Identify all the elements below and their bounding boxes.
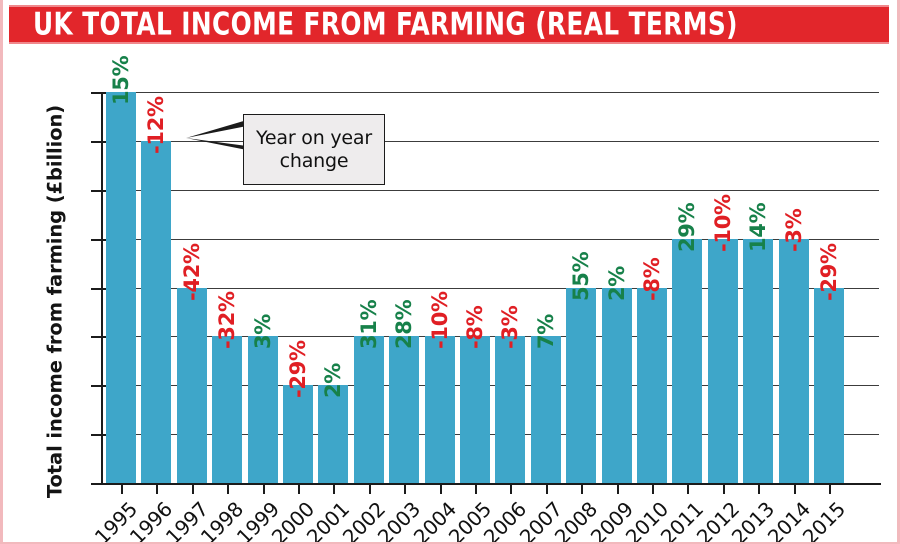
- bar[interactable]: [354, 336, 384, 483]
- x-tick-mark: [227, 484, 229, 494]
- bar-data-label: 29%: [677, 202, 698, 251]
- x-tick-mark: [298, 484, 300, 494]
- bar[interactable]: [531, 336, 561, 483]
- bar[interactable]: [779, 239, 809, 483]
- bar[interactable]: [141, 141, 171, 483]
- bar[interactable]: [672, 239, 702, 483]
- bar-data-label: 15%: [111, 56, 132, 105]
- chart-page: UK TOTAL INCOME FROM FARMING (REAL TERMS…: [0, 0, 900, 544]
- year-on-year-change-callout: Year on year change: [243, 114, 385, 185]
- x-tick-mark: [121, 484, 123, 494]
- x-tick-mark: [546, 484, 548, 494]
- bar[interactable]: [637, 288, 667, 484]
- bar-data-label: 31%: [359, 300, 380, 349]
- gridline: [101, 190, 879, 191]
- bar-data-label: -29%: [288, 340, 309, 398]
- x-tick-mark: [475, 484, 477, 494]
- x-tick-mark: [510, 484, 512, 494]
- bar[interactable]: [389, 336, 419, 483]
- y-tick-mark: [91, 483, 111, 485]
- bar-data-label: -29%: [819, 243, 840, 301]
- bar-data-label: 28%: [394, 300, 415, 349]
- bar[interactable]: [212, 336, 242, 483]
- x-tick-mark: [758, 484, 760, 494]
- bar[interactable]: [460, 336, 490, 483]
- x-tick-mark: [263, 484, 265, 494]
- x-axis-line: [101, 483, 881, 485]
- x-tick-mark: [687, 484, 689, 494]
- bar[interactable]: [177, 288, 207, 484]
- bar[interactable]: [602, 288, 632, 484]
- bar-data-label: 55%: [571, 251, 592, 300]
- bar-data-label: 2%: [323, 363, 344, 398]
- bar-data-label: -10%: [430, 292, 451, 350]
- bar[interactable]: [743, 239, 773, 483]
- x-tick-mark: [581, 484, 583, 494]
- bar[interactable]: [425, 336, 455, 483]
- bar-data-label: -8%: [642, 257, 663, 300]
- bar-data-label: 3%: [253, 314, 274, 349]
- bar[interactable]: [814, 288, 844, 484]
- callout-line-1: Year on year: [256, 127, 372, 149]
- bar-data-label: -8%: [465, 306, 486, 349]
- bar-data-label: -42%: [182, 243, 203, 301]
- callout-leader-line: [183, 118, 249, 154]
- x-tick-mark: [794, 484, 796, 494]
- y-axis-title: Total income from farming (£billion): [44, 87, 67, 517]
- x-tick-mark: [723, 484, 725, 494]
- x-tick-mark: [156, 484, 158, 494]
- title-banner: UK TOTAL INCOME FROM FARMING (REAL TERMS…: [9, 5, 889, 44]
- bar-data-label: -32%: [217, 292, 238, 350]
- x-tick-mark: [652, 484, 654, 494]
- bar[interactable]: [283, 385, 313, 483]
- bar-data-label: -3%: [784, 208, 805, 251]
- bar-data-label: 2%: [607, 265, 628, 300]
- bar-data-label: -12%: [146, 96, 167, 154]
- x-tick-mark: [404, 484, 406, 494]
- bar-data-label: 7%: [536, 314, 557, 349]
- bar[interactable]: [708, 239, 738, 483]
- page-title: UK TOTAL INCOME FROM FARMING (REAL TERMS…: [33, 6, 738, 42]
- x-tick-mark: [440, 484, 442, 494]
- x-tick-mark: [829, 484, 831, 494]
- bar[interactable]: [566, 288, 596, 484]
- bar-data-label: 14%: [748, 202, 769, 251]
- callout-line-2: change: [280, 150, 349, 172]
- bar[interactable]: [106, 92, 136, 483]
- bar[interactable]: [248, 336, 278, 483]
- x-tick-mark: [617, 484, 619, 494]
- x-tick-mark: [333, 484, 335, 494]
- callout-label: Year on year change: [256, 127, 372, 172]
- bar-data-label: -3%: [500, 306, 521, 349]
- gridline: [101, 92, 879, 93]
- bar[interactable]: [495, 336, 525, 483]
- x-tick-mark: [369, 484, 371, 494]
- bar[interactable]: [318, 385, 348, 483]
- bar-data-label: -10%: [713, 194, 734, 252]
- x-tick-mark: [192, 484, 194, 494]
